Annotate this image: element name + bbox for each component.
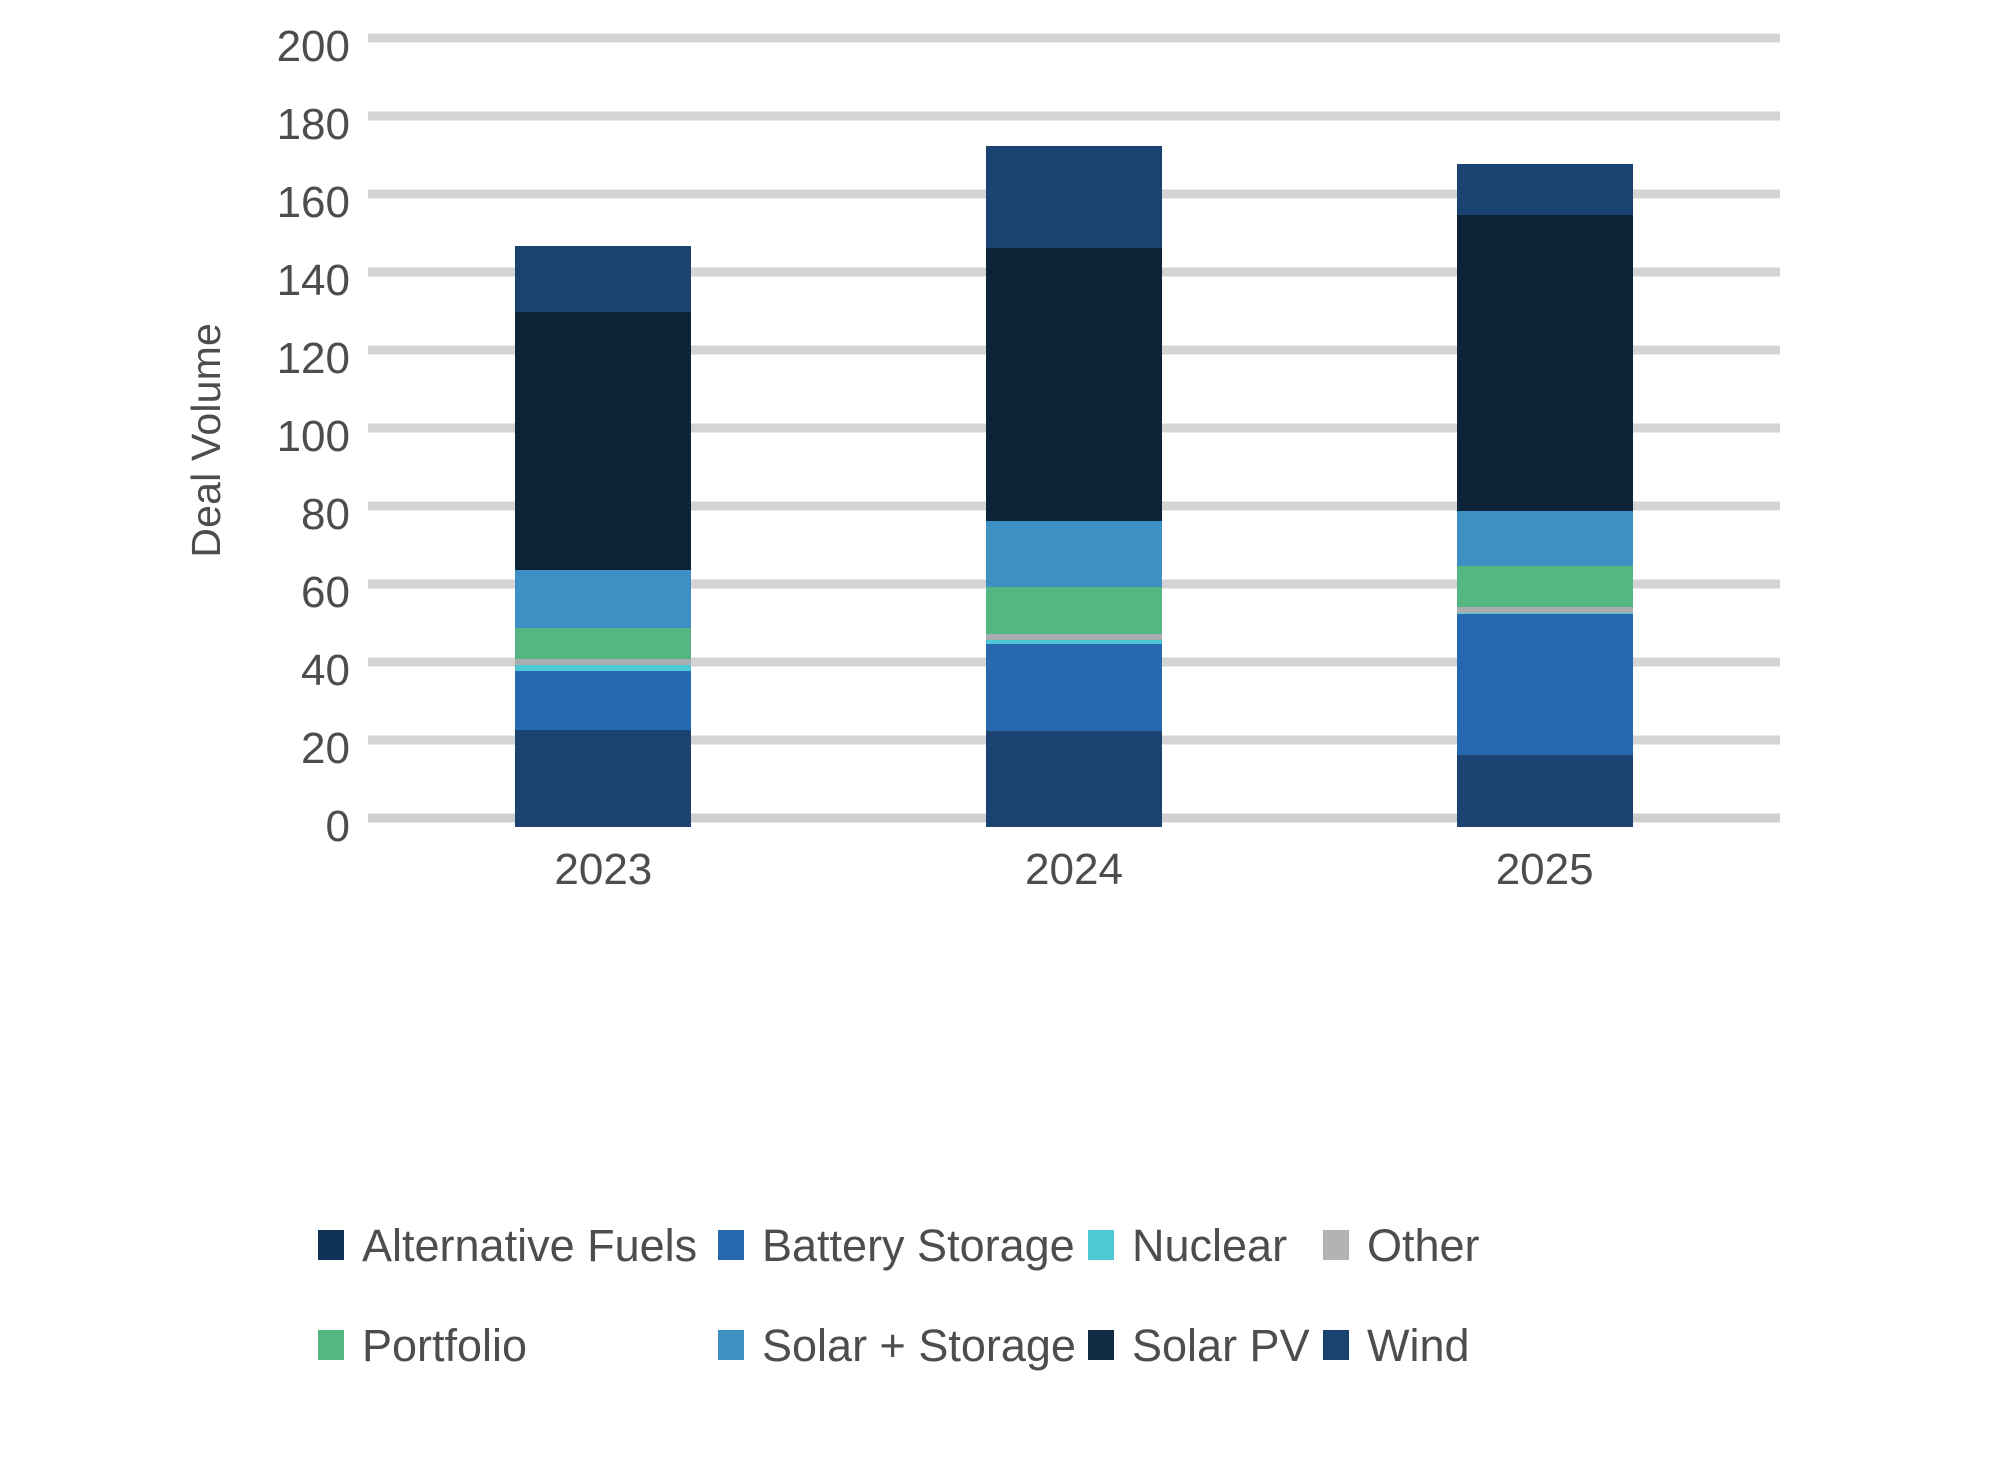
bar-segment[interactable] (1457, 215, 1633, 511)
bar-segment[interactable] (515, 312, 691, 569)
bar-segment[interactable] (986, 248, 1162, 521)
bar-stack (515, 246, 691, 827)
y-axis-tick-label: 80 (301, 493, 350, 537)
x-axis-tick-label: 2025 (1496, 845, 1594, 895)
bar-segment[interactable] (1457, 164, 1633, 215)
y-axis-tick-label: 140 (277, 259, 350, 303)
legend-swatch-icon (318, 1330, 344, 1360)
bar-segment[interactable] (1457, 566, 1633, 607)
legend-swatch-icon (1323, 1230, 1349, 1260)
y-axis-tick-label: 0 (326, 805, 350, 849)
bar-group[interactable] (1457, 47, 1633, 827)
y-axis-tick-label: 100 (277, 415, 350, 459)
bar-segment[interactable] (515, 628, 691, 659)
x-axis-tick-labels: 202320242025 (368, 845, 1780, 915)
bar-segment[interactable] (515, 570, 691, 629)
bar-segment[interactable] (986, 521, 1162, 587)
legend-row: Alternative FuelsBattery StorageNuclearO… (318, 1195, 1778, 1295)
x-axis-tick-label: 2023 (554, 845, 652, 895)
bar-segment[interactable] (1457, 755, 1633, 827)
legend-swatch-icon (318, 1230, 344, 1260)
legend-label: Solar PV (1132, 1323, 1310, 1368)
bar-group[interactable] (986, 47, 1162, 827)
legend-swatch-icon (1088, 1230, 1114, 1260)
legend-label: Alternative Fuels (362, 1223, 697, 1268)
bar-segment[interactable] (1457, 511, 1633, 566)
legend-item[interactable]: Wind (1323, 1323, 1470, 1368)
bar-segment[interactable] (515, 246, 691, 312)
stacked-bar-chart: Deal Volume 020406080100120140160180200 … (0, 0, 2000, 1471)
y-axis-tick-label: 120 (277, 337, 350, 381)
bar-segment[interactable] (515, 671, 691, 730)
bar-segment[interactable] (986, 587, 1162, 634)
legend-row: PortfolioSolar + StorageSolar PVWind (318, 1295, 1778, 1395)
bar-segment[interactable] (515, 730, 691, 828)
legend-item[interactable]: Solar + Storage (718, 1323, 1076, 1368)
legend-item[interactable]: Other (1323, 1223, 1480, 1268)
legend-swatch-icon (718, 1330, 744, 1360)
chart-legend: Alternative FuelsBattery StorageNuclearO… (318, 1195, 1778, 1395)
legend-swatch-icon (718, 1230, 744, 1260)
y-axis-tick-labels: 020406080100120140160180200 (210, 47, 350, 827)
bars-layer (368, 47, 1780, 827)
legend-label: Nuclear (1132, 1223, 1287, 1268)
bar-group[interactable] (515, 47, 691, 827)
bar-segment[interactable] (986, 644, 1162, 732)
legend-swatch-icon (1088, 1330, 1114, 1360)
x-axis-tick-label: 2024 (1025, 845, 1123, 895)
legend-swatch-icon (1323, 1330, 1349, 1360)
legend-item[interactable]: Solar PV (1088, 1323, 1310, 1368)
bar-segment[interactable] (986, 731, 1162, 827)
y-axis-title: Deal Volume (0, 0, 230, 880)
legend-label: Solar + Storage (762, 1323, 1076, 1368)
legend-label: Wind (1367, 1323, 1470, 1368)
y-axis-tick-label: 20 (301, 727, 350, 771)
bar-segment[interactable] (1457, 614, 1633, 754)
legend-label: Other (1367, 1223, 1480, 1268)
bar-stack (986, 146, 1162, 827)
bar-segment[interactable] (986, 146, 1162, 247)
y-axis-tick-label: 60 (301, 571, 350, 615)
y-axis-tick-label: 200 (277, 25, 350, 69)
legend-item[interactable]: Nuclear (1088, 1223, 1287, 1268)
y-axis-tick-label: 40 (301, 649, 350, 693)
legend-item[interactable]: Battery Storage (718, 1223, 1075, 1268)
legend-label: Portfolio (362, 1323, 527, 1368)
bar-stack (1457, 164, 1633, 827)
y-axis-tick-label: 180 (277, 103, 350, 147)
legend-label: Battery Storage (762, 1223, 1075, 1268)
legend-item[interactable]: Portfolio (318, 1323, 527, 1368)
y-axis-tick-label: 160 (277, 181, 350, 225)
legend-item[interactable]: Alternative Fuels (318, 1223, 697, 1268)
gridline (368, 34, 1780, 43)
